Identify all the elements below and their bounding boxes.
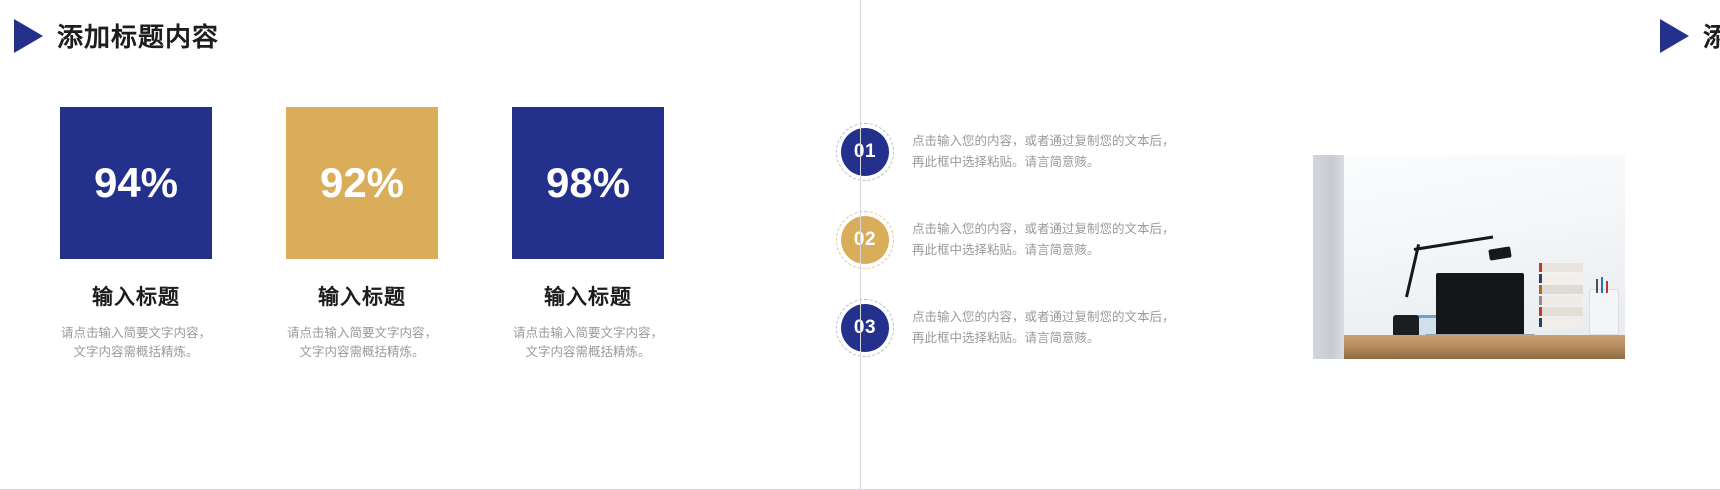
stats-row: 94% 输入标题 请点击输入简要文字内容， 文字内容需概括精炼。 92% 输入标… xyxy=(60,107,730,362)
slide-deck: 添加标题内容 94% 输入标题 请点击输入简要文字内容， 文字内容需概括精炼。 … xyxy=(0,0,1720,490)
desk-organizer-icon xyxy=(1589,289,1619,335)
stat-box: 92% xyxy=(286,107,438,259)
badge-disc: 02 xyxy=(841,216,889,264)
slide-divider xyxy=(860,0,861,490)
slide-right-header: 添加标题内容 xyxy=(1660,17,1720,54)
stat-description: 请点击输入简要文字内容， 文字内容需概括精炼。 xyxy=(61,324,211,362)
play-triangle-icon xyxy=(1660,19,1689,53)
step-text-line: 点击输入您的内容，或者通过复制您的文本后， xyxy=(912,307,1175,328)
laptop-icon xyxy=(1436,273,1524,335)
stat-value: 94% xyxy=(94,159,178,207)
stat-title: 输入标题 xyxy=(92,281,180,311)
step-text: 点击输入您的内容，或者通过复制您的文本后， 再此框中选择粘贴。请言简意赅。 xyxy=(912,307,1175,349)
stat-value: 92% xyxy=(320,159,404,207)
lamp-base-icon xyxy=(1393,315,1419,337)
step-text-line: 再此框中选择粘贴。请言简意赅。 xyxy=(912,328,1175,349)
page-title: 添加标题内容 xyxy=(57,17,219,54)
step-text-line: 点击输入您的内容，或者通过复制您的文本后， xyxy=(912,131,1175,152)
desk-surface xyxy=(1344,335,1625,359)
stat-value: 98% xyxy=(546,159,630,207)
step-number: 01 xyxy=(854,141,876,163)
step-number: 03 xyxy=(854,317,876,339)
book-stack-icon xyxy=(1539,263,1583,335)
badge-disc: 01 xyxy=(841,128,889,176)
stat-title: 输入标题 xyxy=(318,281,406,311)
stat-description: 请点击输入简要文字内容， 文字内容需概括精炼。 xyxy=(287,324,437,362)
stat-title: 输入标题 xyxy=(544,281,632,311)
page-title: 添加标题内容 xyxy=(1703,17,1720,54)
step-text-line: 点击输入您的内容，或者通过复制您的文本后， xyxy=(912,219,1175,240)
step-badge: 01 xyxy=(836,123,894,181)
list-item[interactable]: 03 点击输入您的内容，或者通过复制您的文本后， 再此框中选择粘贴。请言简意赅。 xyxy=(836,296,1146,360)
stat-card[interactable]: 98% 输入标题 请点击输入简要文字内容， 文字内容需概括精炼。 xyxy=(512,107,664,362)
desk-photo xyxy=(1313,155,1625,359)
photo-wall-left xyxy=(1313,155,1344,359)
pens-icon xyxy=(1595,277,1613,293)
stat-description-line: 文字内容需概括精炼。 xyxy=(287,343,437,362)
stat-description-line: 请点击输入简要文字内容， xyxy=(287,324,437,343)
steps-list: 01 点击输入您的内容，或者通过复制您的文本后， 再此框中选择粘贴。请言简意赅。… xyxy=(836,120,1146,384)
slide-left[interactable]: 添加标题内容 94% 输入标题 请点击输入简要文字内容， 文字内容需概括精炼。 … xyxy=(0,0,860,490)
stat-box: 94% xyxy=(60,107,212,259)
step-text: 点击输入您的内容，或者通过复制您的文本后， 再此框中选择粘贴。请言简意赅。 xyxy=(912,219,1175,261)
stat-description-line: 请点击输入简要文字内容， xyxy=(61,324,211,343)
step-badge: 03 xyxy=(836,299,894,357)
stat-box: 98% xyxy=(512,107,664,259)
step-number: 02 xyxy=(854,229,876,251)
stat-description: 请点击输入简要文字内容， 文字内容需概括精炼。 xyxy=(513,324,663,362)
step-badge: 02 xyxy=(836,211,894,269)
stat-description-line: 文字内容需概括精炼。 xyxy=(61,343,211,362)
step-text: 点击输入您的内容，或者通过复制您的文本后， 再此框中选择粘贴。请言简意赅。 xyxy=(912,131,1175,173)
list-item[interactable]: 02 点击输入您的内容，或者通过复制您的文本后， 再此框中选择粘贴。请言简意赅。 xyxy=(836,208,1146,272)
stat-card[interactable]: 94% 输入标题 请点击输入简要文字内容， 文字内容需概括精炼。 xyxy=(60,107,212,362)
step-text-line: 再此框中选择粘贴。请言简意赅。 xyxy=(912,240,1175,261)
slide-left-header: 添加标题内容 xyxy=(14,17,219,54)
list-item[interactable]: 01 点击输入您的内容，或者通过复制您的文本后， 再此框中选择粘贴。请言简意赅。 xyxy=(836,120,1146,184)
stat-description-line: 请点击输入简要文字内容， xyxy=(513,324,663,343)
stat-card[interactable]: 92% 输入标题 请点击输入简要文字内容， 文字内容需概括精炼。 xyxy=(286,107,438,362)
play-triangle-icon xyxy=(14,19,43,53)
badge-disc: 03 xyxy=(841,304,889,352)
stat-description-line: 文字内容需概括精炼。 xyxy=(513,343,663,362)
step-text-line: 再此框中选择粘贴。请言简意赅。 xyxy=(912,152,1175,173)
